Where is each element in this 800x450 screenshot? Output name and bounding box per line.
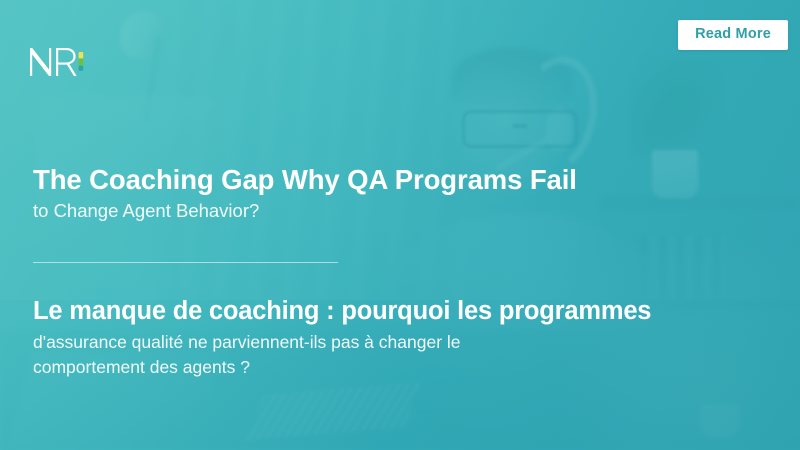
banner-content: Read More The Coaching Gap Why QA Progra… — [0, 0, 800, 450]
nr-logo-icon — [28, 44, 90, 78]
title-english-line2: to Change Agent Behavior? — [33, 199, 773, 224]
title-french-line2: d'assurance qualité ne parviennent-ils p… — [33, 330, 773, 355]
section-divider — [33, 262, 338, 263]
title-french: Le manque de coaching : pourquoi les pro… — [33, 297, 773, 380]
title-french-line1: Le manque de coaching : pourquoi les pro… — [33, 297, 773, 326]
read-more-button[interactable]: Read More — [678, 20, 788, 50]
title-english: The Coaching Gap Why QA Programs Fail to… — [33, 165, 773, 224]
brand-logo[interactable] — [28, 44, 90, 78]
promo-banner: Read More The Coaching Gap Why QA Progra… — [0, 0, 800, 450]
title-english-line1: The Coaching Gap Why QA Programs Fail — [33, 165, 773, 196]
title-french-line3: comportement des agents ? — [33, 355, 773, 380]
